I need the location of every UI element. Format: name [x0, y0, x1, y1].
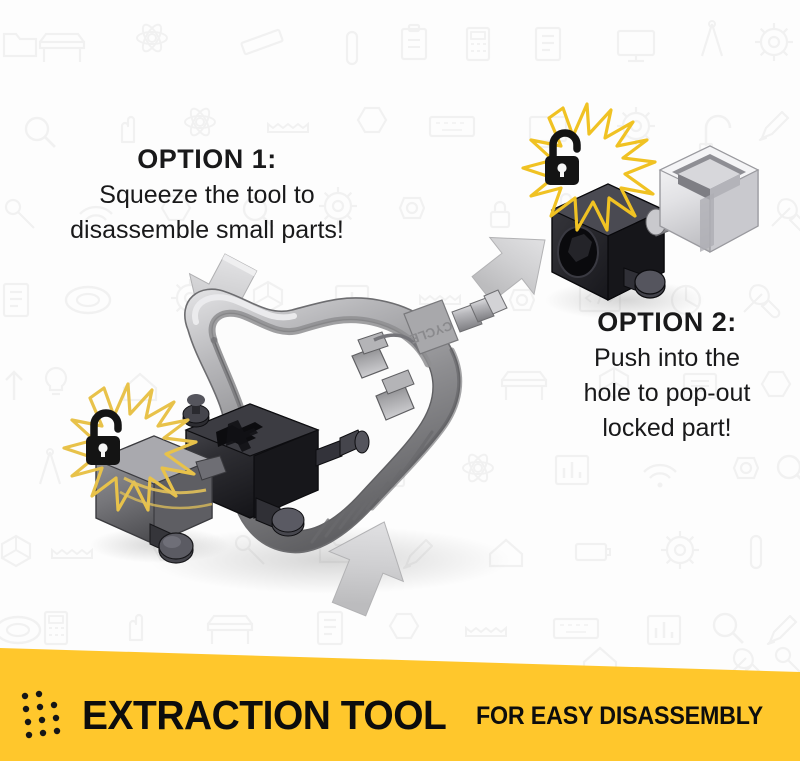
infographic-canvas: CYCLE: [0, 0, 800, 761]
callout-option-1: OPTION 1: Squeeze the tool to disassembl…: [48, 142, 366, 246]
socket-housing-right: [660, 146, 758, 252]
dots-chevron-icon: [18, 687, 72, 743]
banner-subtitle: FOR EASY DISASSEMBLY: [476, 702, 763, 731]
option1-body-line1: Squeeze the tool to: [48, 179, 366, 211]
unlock-icon: [86, 413, 120, 465]
option2-heading: OPTION 2:: [538, 305, 796, 339]
option2-body-line3: locked part!: [538, 412, 796, 444]
part-socket-hole: [558, 227, 598, 277]
option1-heading: OPTION 1:: [48, 142, 366, 176]
option2-body-line2: hole to pop-out: [538, 377, 796, 409]
tool-steel-shaft: [452, 290, 507, 332]
bottom-banner: EXTRACTION TOOL FOR EASY DISASSEMBLY: [0, 626, 800, 761]
option1-body-line2: disassemble small parts!: [48, 214, 366, 246]
banner-title: EXTRACTION TOOL: [82, 692, 446, 739]
unlock-icon: [545, 133, 579, 185]
option2-body-line1: Push into the: [538, 342, 796, 374]
banner-content: EXTRACTION TOOL FOR EASY DISASSEMBLY: [0, 669, 800, 761]
callout-option-2: OPTION 2: Push into the hole to pop-out …: [538, 305, 796, 444]
